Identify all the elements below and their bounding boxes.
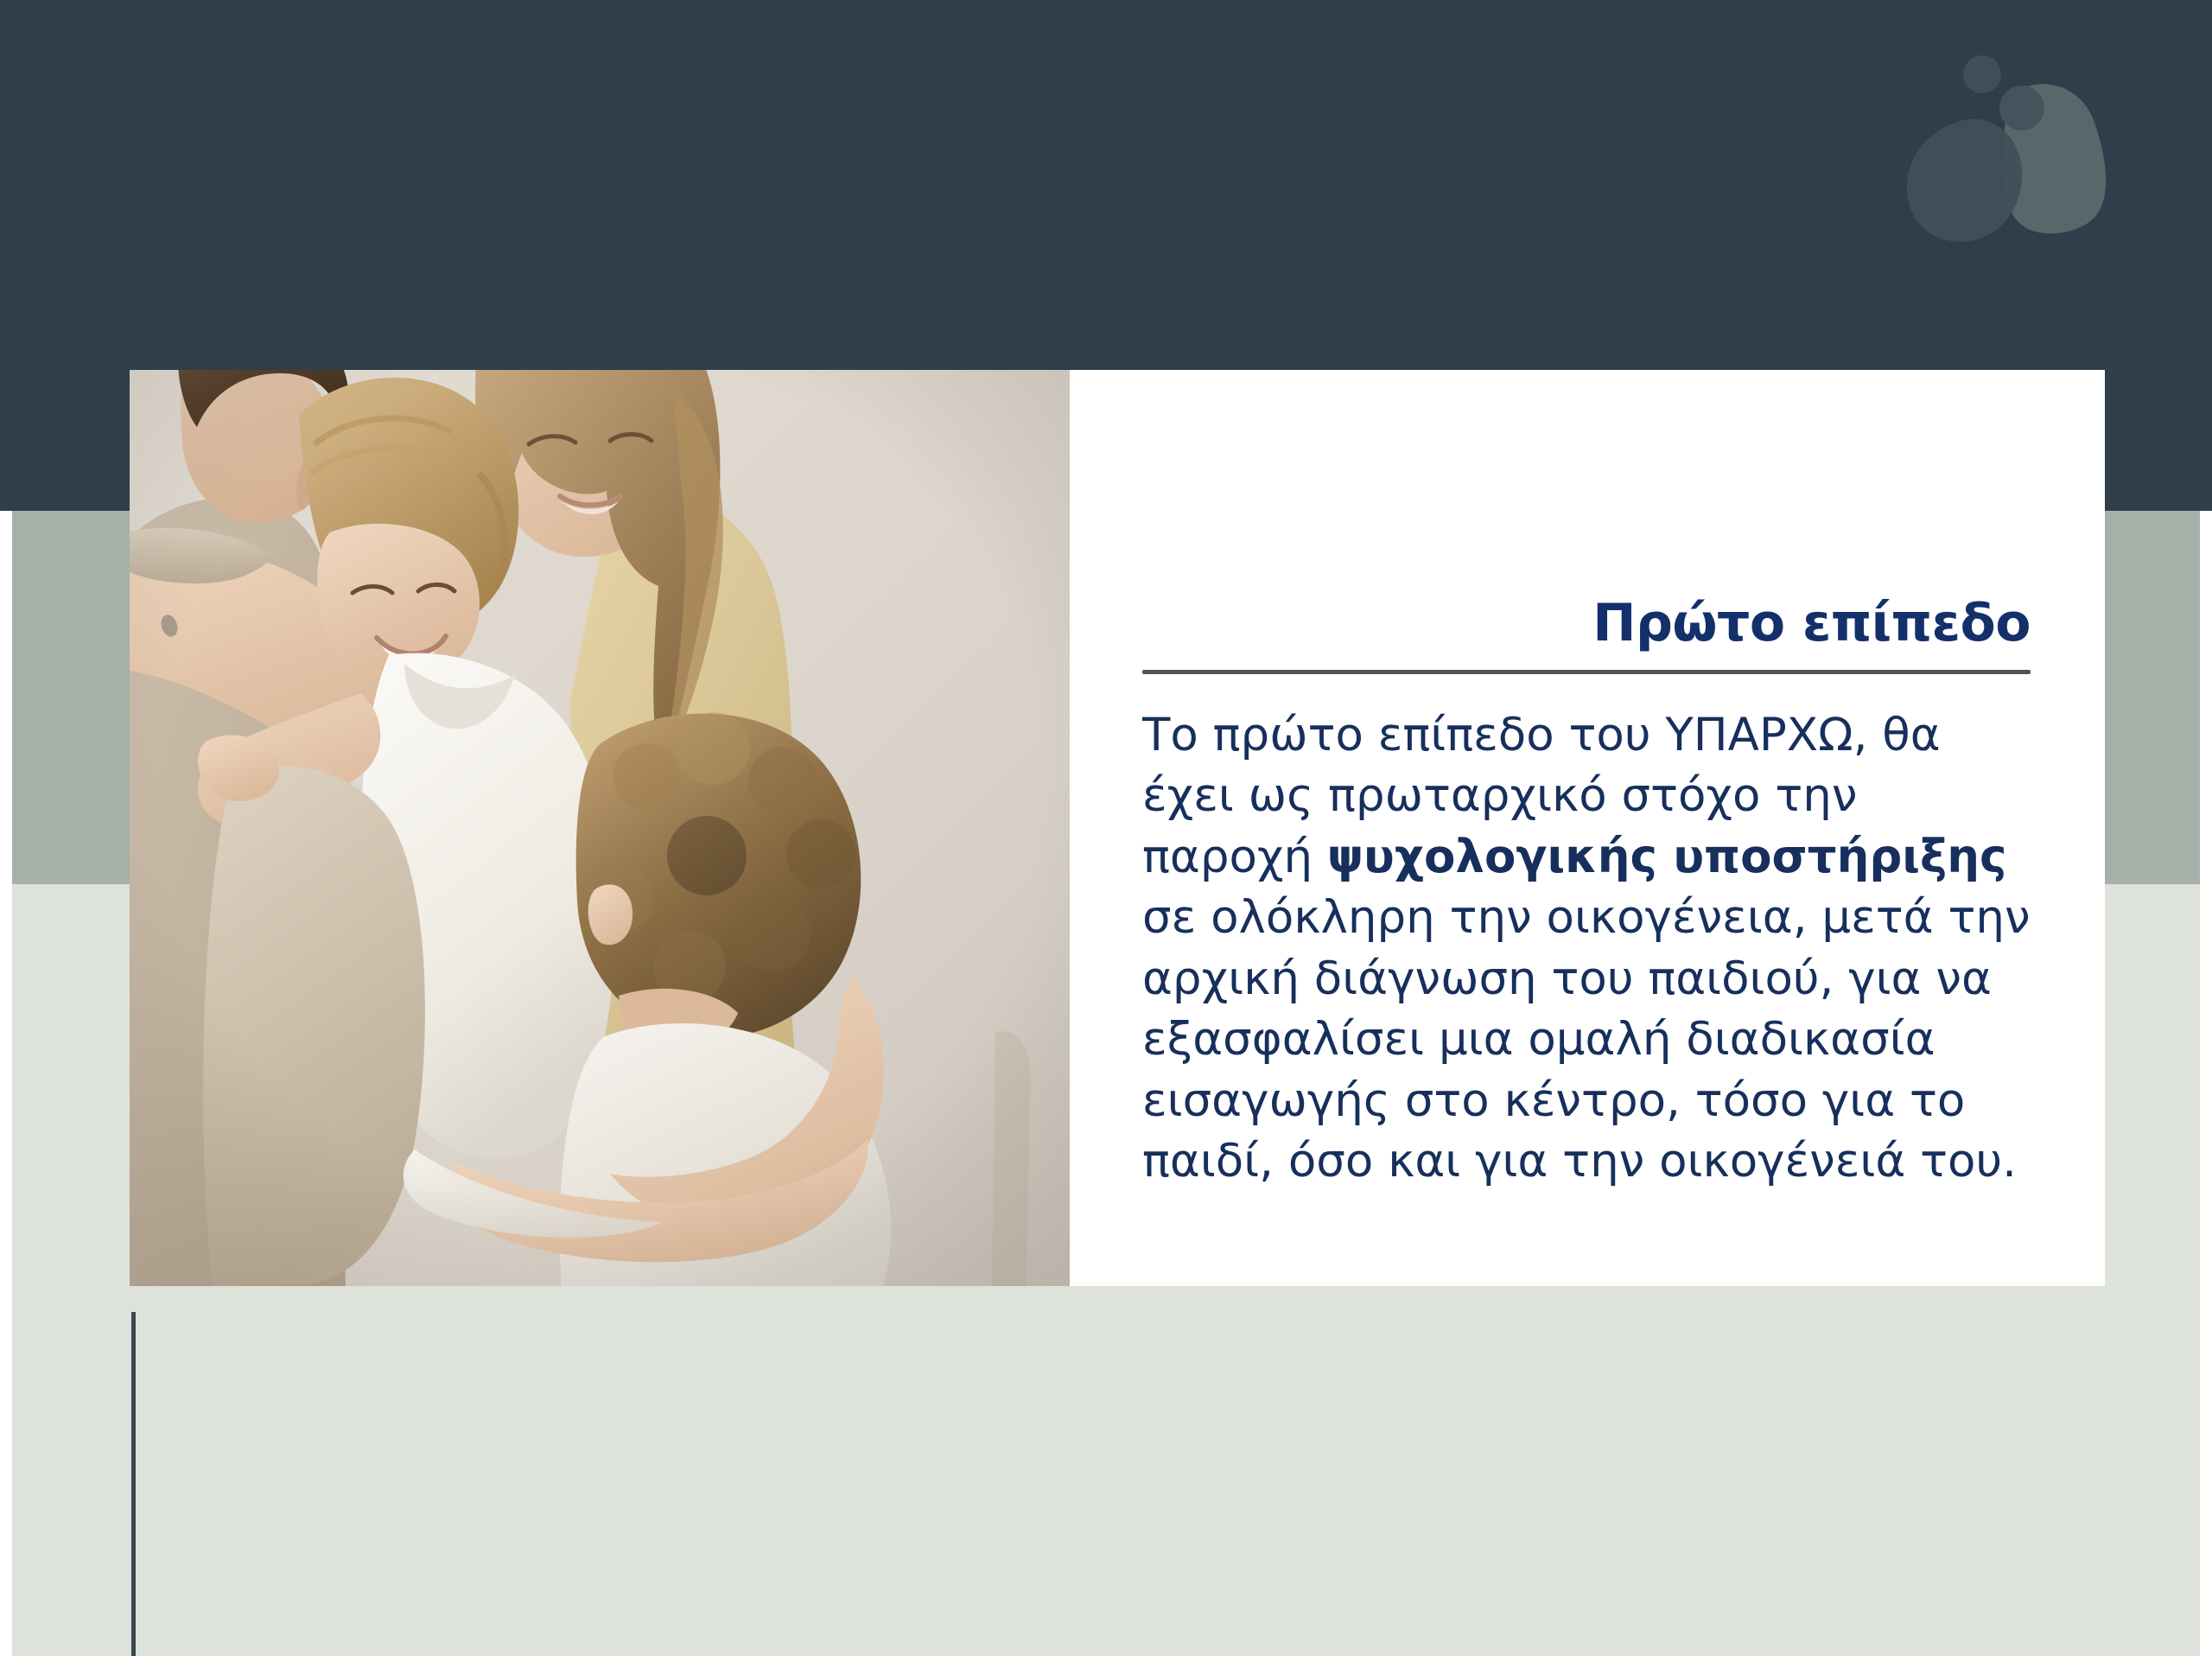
family-hug-photo: [130, 370, 1070, 1286]
slide-root: Πρώτο επίπεδο Το πρώτο επίπεδο του ΥΠΑΡΧ…: [0, 0, 2212, 1656]
page-title: Πρώτο επίπεδο: [1142, 596, 2031, 651]
content-card-inner: Πρώτο επίπεδο Το πρώτο επίπεδο του ΥΠΑΡΧ…: [1142, 370, 2031, 1286]
family-blob-logo-icon: [1884, 26, 2160, 251]
content-card: Πρώτο επίπεδο Το πρώτο επίπεδο του ΥΠΑΡΧ…: [1070, 370, 2105, 1286]
page-margin-left: [0, 511, 12, 1656]
body-tail-text: σε ολόκληρη την οικογένεια, μετά την αρχ…: [1142, 891, 2031, 1188]
body-emphasis-text: ψυχολογικής υποστήριξης: [1327, 831, 2006, 883]
title-divider: [1142, 670, 2031, 674]
vertical-accent-rule: [131, 1312, 136, 1656]
page-margin-right: [2200, 511, 2212, 1656]
body-paragraph: Το πρώτο επίπεδο του ΥΠΑΡΧΩ, θα έχει ως …: [1142, 705, 2031, 1193]
